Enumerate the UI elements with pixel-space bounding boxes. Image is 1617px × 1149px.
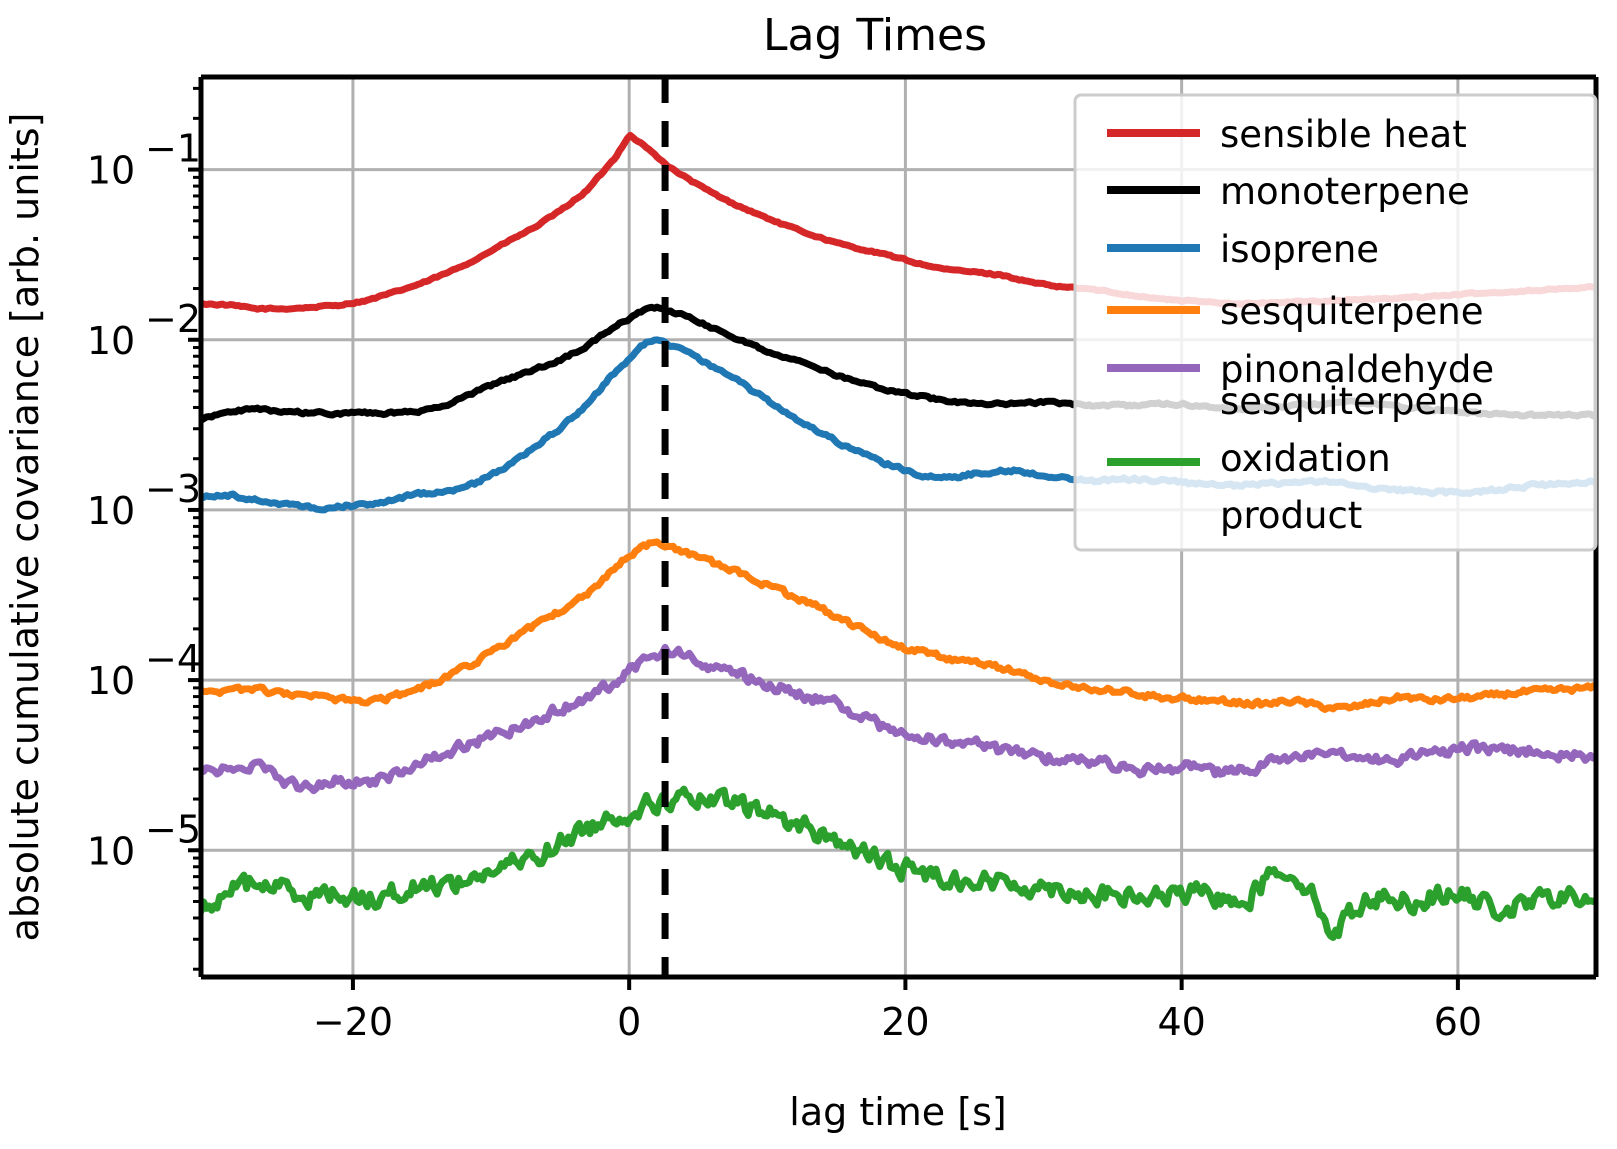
legend-label: product	[1220, 494, 1362, 537]
svg-text:−4: −4	[145, 637, 201, 681]
x-tick-label: 0	[617, 1000, 641, 1044]
svg-text:10: 10	[87, 489, 135, 533]
lag-times-chart: Lag Times absolute cumulative covariance…	[0, 0, 1617, 1149]
legend-label: sensible heat	[1220, 113, 1467, 156]
svg-text:−1: −1	[145, 127, 201, 171]
legend-label: oxidation	[1220, 437, 1391, 480]
x-tick-label: 60	[1434, 1000, 1482, 1044]
svg-text:10: 10	[87, 659, 135, 703]
legend-label: isoprene	[1220, 228, 1379, 271]
x-tick-label: 20	[881, 1000, 929, 1044]
legend-label: sesquiterpene	[1220, 290, 1483, 333]
y-axis-label: absolute cumulative covariance [arb. uni…	[3, 113, 47, 942]
x-tick-label: 40	[1157, 1000, 1205, 1044]
chart-title: Lag Times	[763, 10, 987, 61]
legend-label: sesquiterpene	[1220, 380, 1483, 423]
x-tick-label: −20	[313, 1000, 393, 1044]
x-axis-label-text: lag time [s]	[789, 1090, 1006, 1134]
svg-text:10: 10	[87, 319, 135, 363]
legend-label: monoterpene	[1220, 170, 1470, 213]
y-axis-label-text: absolute cumulative covariance [arb. uni…	[3, 113, 47, 942]
svg-text:10: 10	[87, 829, 135, 873]
svg-text:−5: −5	[145, 807, 201, 851]
svg-text:−3: −3	[145, 467, 201, 511]
svg-text:−2: −2	[145, 297, 201, 341]
svg-text:10: 10	[87, 149, 135, 193]
figure-container: Lag Times absolute cumulative covariance…	[0, 0, 1617, 1149]
chart-legend: sensible heatmonoterpeneisoprenesesquite…	[1075, 95, 1596, 550]
